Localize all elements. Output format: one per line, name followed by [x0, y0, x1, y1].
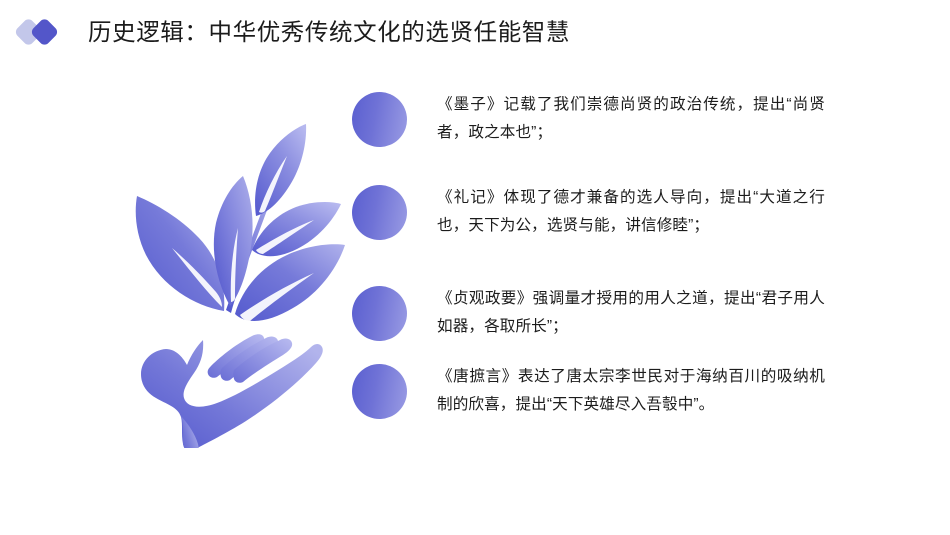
slide-header: 历史逻辑：中华优秀传统文化的选贤任能智慧: [0, 0, 950, 62]
bullet-dot-icon: [352, 286, 407, 341]
bullet-dot-icon: [352, 185, 407, 240]
bullet-text: 《礼记》体现了德才兼备的选人导向，提出“大道之行也，天下为公，选贤与能，讲信修睦…: [437, 184, 825, 239]
bullet-text: 《贞观政要》强调量才授用的用人之道，提出“君子用人如器，各取所长”；: [437, 285, 825, 340]
bullet-text: 《墨子》记载了我们崇德尚贤的政治传统，提出“尚贤者，政之本也”；: [437, 91, 825, 146]
hand-holding-plant-icon: [104, 78, 354, 448]
bullet-dot-icon: [352, 364, 407, 419]
bullet-text: 《唐摭言》表达了唐太宗李世民对于海纳百川的吸纳机制的欣喜，提出“天下英雄尽入吾彀…: [437, 363, 825, 418]
slide-canvas: 历史逻辑：中华优秀传统文化的选贤任能智慧: [0, 0, 950, 535]
page-title: 历史逻辑：中华优秀传统文化的选贤任能智慧: [88, 16, 570, 48]
bullet-dot-icon: [352, 92, 407, 147]
double-diamond-logo-icon: [14, 17, 72, 47]
